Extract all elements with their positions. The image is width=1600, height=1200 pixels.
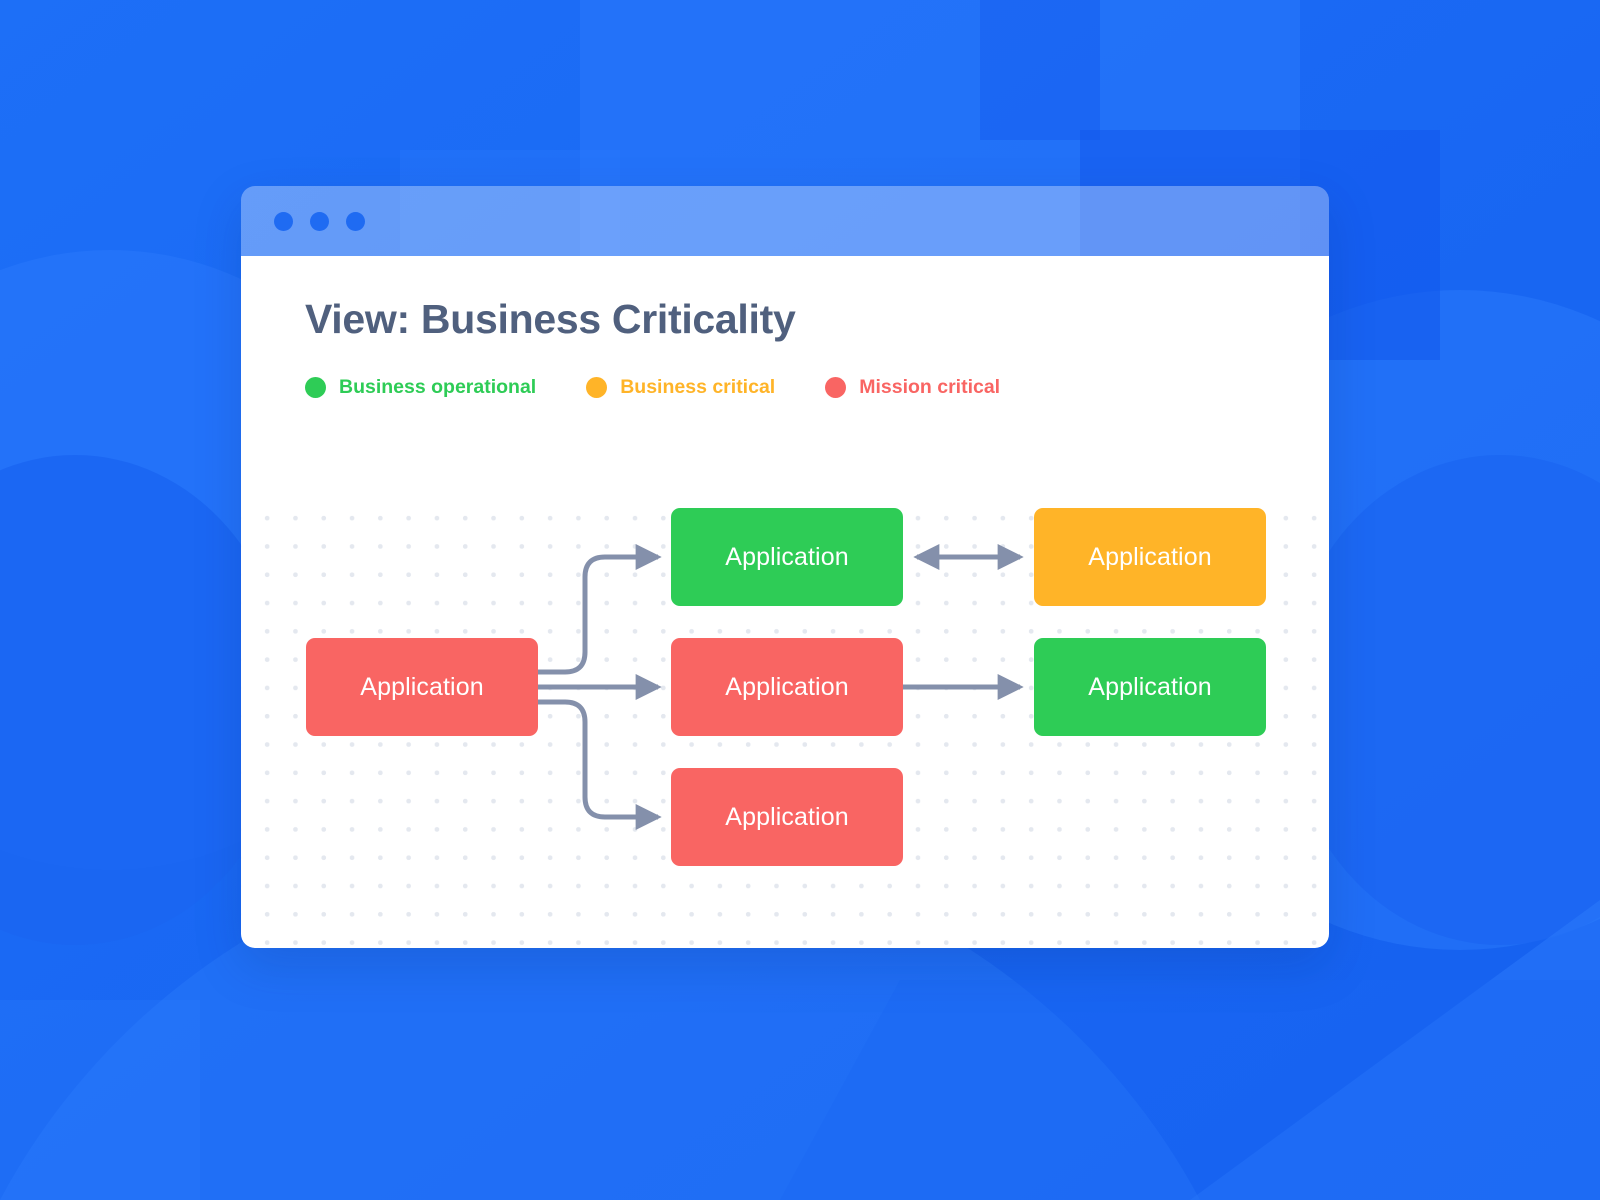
node-application-source[interactable]: Application (306, 638, 538, 736)
browser-window: View: Business Criticality Business oper… (241, 186, 1329, 948)
diagram-canvas: Application Application Application Appl… (241, 256, 1329, 948)
window-dot-2[interactable] (310, 212, 329, 231)
node-application-mid-right[interactable]: Application (1034, 638, 1266, 736)
edge-source-to-bottom-mid (538, 702, 658, 817)
node-application-top-mid[interactable]: Application (671, 508, 903, 606)
node-label: Application (360, 673, 483, 702)
window-dot-1[interactable] (274, 212, 293, 231)
node-label: Application (725, 543, 848, 572)
window-dot-3[interactable] (346, 212, 365, 231)
node-application-bottom-mid[interactable]: Application (671, 768, 903, 866)
node-label: Application (725, 803, 848, 832)
node-label: Application (1088, 543, 1211, 572)
screenshot-root: View: Business Criticality Business oper… (0, 0, 1600, 1200)
window-titlebar (241, 186, 1329, 256)
window-canvas: View: Business Criticality Business oper… (241, 256, 1329, 948)
node-label: Application (1088, 673, 1211, 702)
node-label: Application (725, 673, 848, 702)
node-application-top-right[interactable]: Application (1034, 508, 1266, 606)
edge-source-to-top-mid (538, 557, 658, 672)
node-application-mid-mid[interactable]: Application (671, 638, 903, 736)
